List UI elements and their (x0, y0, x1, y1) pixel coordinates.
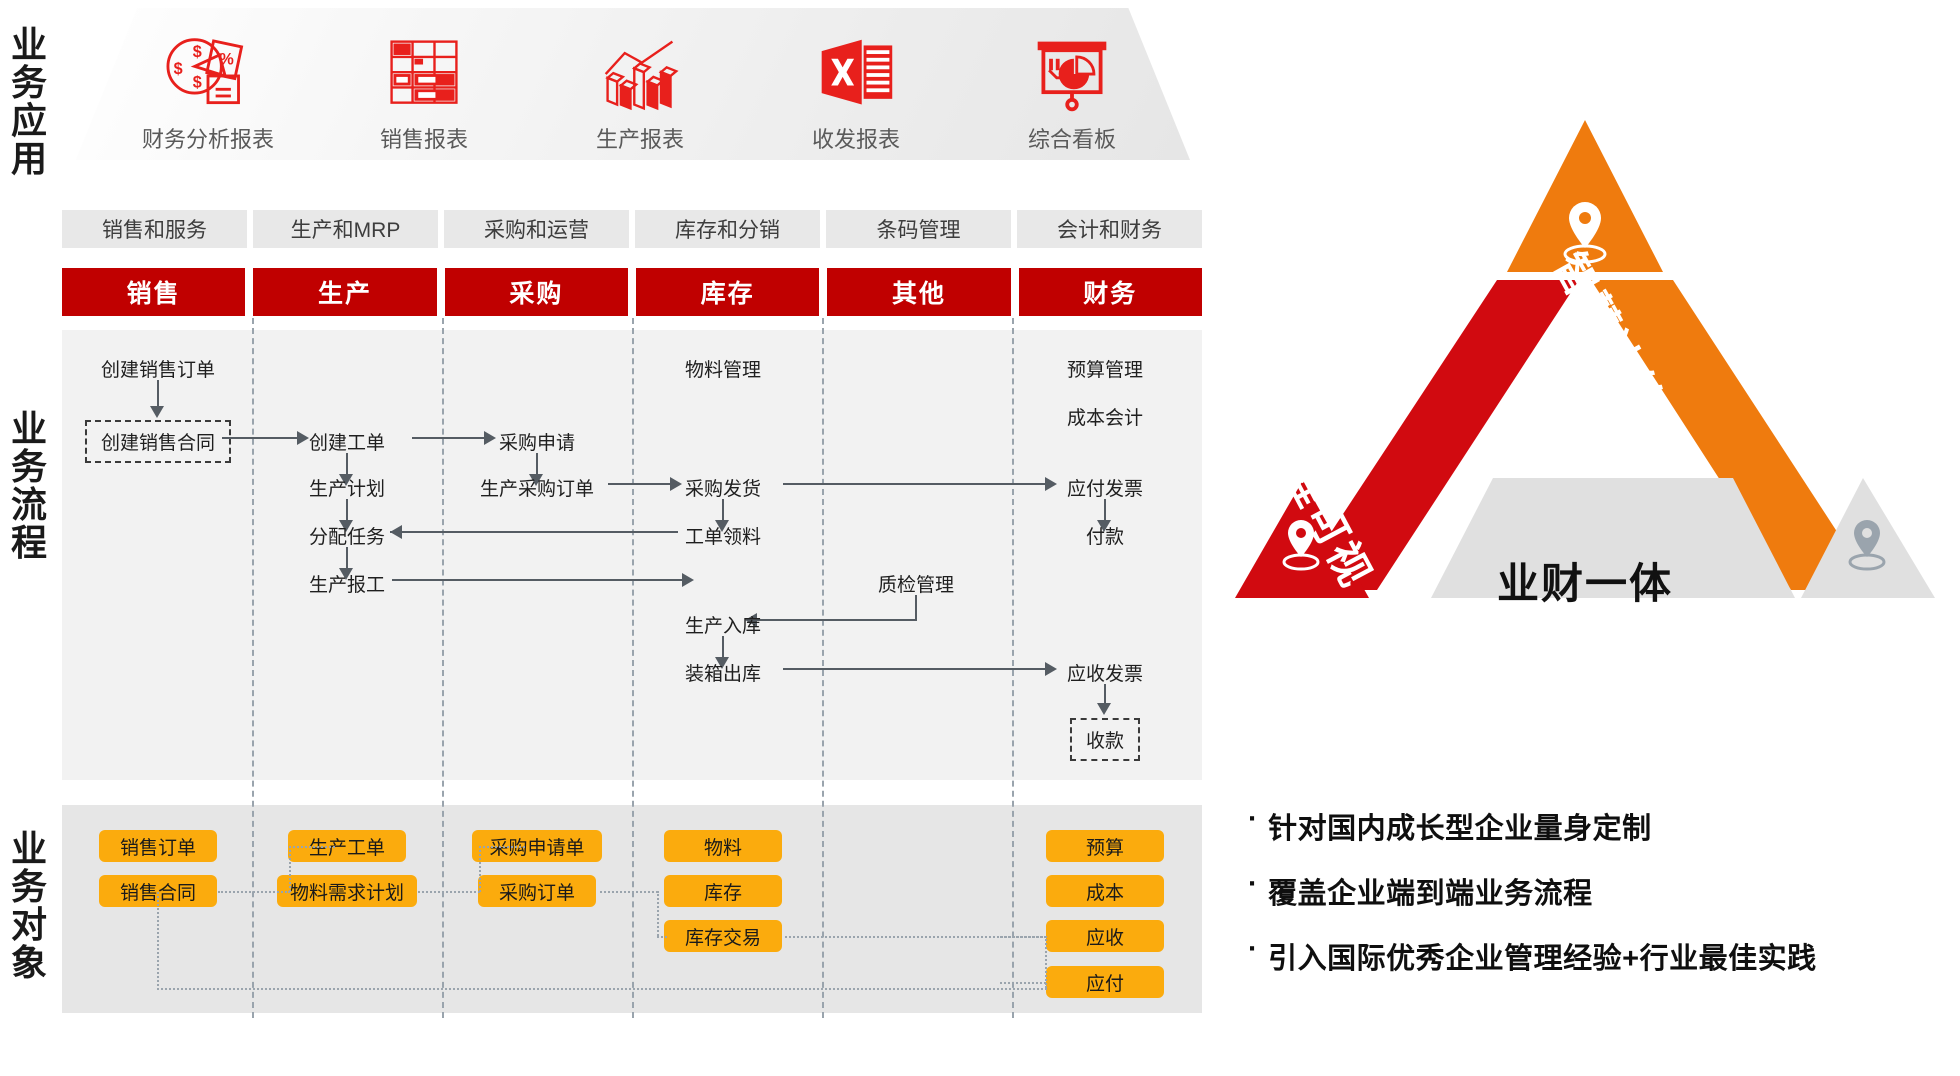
process-node-packing-stock-out[interactable]: 装箱出库 (685, 659, 761, 686)
process-node-quality-management[interactable]: 质检管理 (878, 570, 954, 597)
process-node-payable-invoice[interactable]: 应付发票 (1067, 474, 1143, 501)
object-relation-line (289, 846, 335, 848)
connector-line (222, 437, 297, 439)
object-box-cost[interactable]: 成本 (1046, 875, 1164, 907)
department-other[interactable]: 其他 (827, 268, 1010, 316)
module-chip-purchase-ops[interactable]: 采购和运营 (444, 210, 629, 248)
presentation-dashboard-icon (1024, 34, 1120, 116)
connector-line (608, 483, 670, 485)
module-chip-sales-service[interactable]: 销售和服务 (62, 210, 247, 248)
process-node-payment[interactable]: 付款 (1086, 522, 1124, 549)
application-label: 财务分析报表 (142, 122, 274, 154)
connector-line (412, 437, 484, 439)
department-finance[interactable]: 财务 (1019, 268, 1202, 316)
department-sales[interactable]: 销售 (62, 268, 245, 316)
connector-arrow (670, 477, 682, 491)
bar-chart-3d-icon (592, 34, 688, 116)
object-box-budget[interactable]: 预算 (1046, 830, 1164, 862)
department-purchase[interactable]: 采购 (445, 268, 628, 316)
application-item-sales-report[interactable]: 销售报表 (316, 24, 532, 154)
connector-arrow (1045, 477, 1057, 491)
connector-line (390, 531, 678, 533)
process-node-create-sales-contract[interactable]: 创建销售合同 (85, 420, 231, 463)
triangle-label-base: 业财一体 (1440, 550, 1730, 611)
object-relation-line (1000, 982, 1046, 984)
bullet-text: 覆盖企业端到端业务流程 (1268, 870, 1593, 912)
svg-text:$: $ (193, 73, 202, 91)
module-chip-production-mrp[interactable]: 生产和MRP (253, 210, 438, 248)
connector-arrow (1045, 662, 1057, 676)
process-node-material-management[interactable]: 物料管理 (685, 355, 761, 382)
object-box-receivable[interactable]: 应收 (1046, 920, 1164, 952)
connector-line (915, 595, 917, 621)
connector-line (157, 380, 159, 408)
process-node-production-stock-in[interactable]: 生产入库 (685, 611, 761, 638)
pie-chart-money-report-icon: $ $ $ % (160, 34, 256, 116)
object-relation-line (418, 891, 480, 893)
feature-bullet-list: · 针对国内成长型企业量身定制 · 覆盖企业端到端业务流程 · 引入国际优秀企业… (1248, 805, 1948, 1000)
lane-separator-3 (632, 318, 634, 1018)
connector-line (783, 668, 1045, 670)
connector-line (757, 619, 917, 621)
process-node-create-sales-order[interactable]: 创建销售订单 (101, 355, 215, 382)
application-label: 销售报表 (380, 122, 468, 154)
connector-arrow (484, 431, 496, 445)
object-box-sales-order[interactable]: 销售订单 (99, 830, 217, 862)
triangle-diagram: 流程可视 智慧决策 业财一体 (1235, 120, 1935, 630)
object-relation-line (600, 891, 658, 893)
module-chip-inventory-dist[interactable]: 库存和分销 (635, 210, 820, 248)
object-box-inventory[interactable]: 库存 (664, 875, 782, 907)
connector-arrow (390, 525, 402, 539)
object-box-payable[interactable]: 应付 (1046, 966, 1164, 998)
spreadsheet-table-icon (376, 34, 472, 116)
connector-arrow (297, 431, 309, 445)
svg-text:%: % (219, 51, 233, 69)
object-relation-line (657, 936, 667, 938)
department-header-row: 销售 生产 采购 库存 其他 财务 (62, 268, 1202, 316)
module-chip-accounting[interactable]: 会计和财务 (1017, 210, 1202, 248)
object-relation-line (479, 846, 481, 892)
lane-separator-1 (252, 318, 254, 1018)
connector-arrow (150, 406, 164, 418)
process-node-production-purchase-order[interactable]: 生产采购订单 (480, 474, 594, 501)
application-item-receipt-report[interactable]: 收发报表 (748, 24, 964, 154)
application-label: 生产报表 (596, 122, 684, 154)
applications-row: $ $ $ % 财务分析报表 (100, 24, 1180, 154)
object-relation-line (289, 846, 291, 892)
connector-line (392, 579, 682, 581)
object-box-mrp[interactable]: 物料需求计划 (277, 875, 417, 907)
process-node-production-plan[interactable]: 生产计划 (309, 474, 385, 501)
department-inventory[interactable]: 库存 (636, 268, 819, 316)
svg-text:$: $ (174, 60, 183, 78)
process-node-production-report[interactable]: 生产报工 (309, 570, 385, 597)
object-relation-line (157, 988, 1047, 990)
object-relation-line (657, 891, 659, 936)
process-node-work-order-picking[interactable]: 工单领料 (685, 522, 761, 549)
modules-row: 销售和服务 生产和MRP 采购和运营 库存和分销 条码管理 会计和财务 (62, 210, 1202, 248)
application-item-production-report[interactable]: 生产报表 (532, 24, 748, 154)
object-box-inventory-transaction[interactable]: 库存交易 (664, 920, 782, 952)
application-label: 收发报表 (812, 122, 900, 154)
process-node-cost-accounting[interactable]: 成本会计 (1067, 403, 1143, 430)
process-node-receivable-invoice[interactable]: 应收发票 (1067, 659, 1143, 686)
process-node-assign-task[interactable]: 分配任务 (309, 522, 385, 549)
connector-line (783, 483, 1045, 485)
lane-separator-2 (442, 318, 444, 1018)
object-box-purchase-order[interactable]: 采购订单 (478, 875, 596, 907)
object-relation-line (157, 892, 159, 990)
application-item-finance-report[interactable]: $ $ $ % 财务分析报表 (100, 24, 316, 154)
process-node-receipt[interactable]: 收款 (1070, 718, 1140, 761)
process-node-create-work-order[interactable]: 创建工单 (309, 428, 385, 455)
excel-file-icon (808, 34, 904, 116)
slide-root: 业务应用 业务流程 业务对象 $ $ $ % (0, 0, 1960, 1076)
object-box-material[interactable]: 物料 (664, 830, 782, 862)
bullet-item: · 针对国内成长型企业量身定制 (1248, 805, 1948, 847)
object-relation-line (218, 891, 290, 893)
application-item-dashboard[interactable]: 综合看板 (964, 24, 1180, 154)
bullet-dot-icon: · (1248, 805, 1258, 834)
department-production[interactable]: 生产 (253, 268, 436, 316)
connector-arrow (682, 573, 694, 587)
module-chip-barcode[interactable]: 条码管理 (826, 210, 1011, 248)
band-label-applications: 业务应用 (2, 26, 56, 179)
process-node-purchase-receipt[interactable]: 采购发货 (685, 474, 761, 501)
connector-arrow (1097, 703, 1111, 715)
bullet-text: 针对国内成长型企业量身定制 (1268, 805, 1652, 847)
band-label-objects: 业务对象 (2, 830, 56, 983)
bullet-item: · 覆盖企业端到端业务流程 (1248, 870, 1948, 912)
svg-text:$: $ (193, 43, 202, 61)
bullet-item: · 引入国际优秀企业管理经验+行业最佳实践 (1248, 935, 1948, 977)
process-node-budget-management[interactable]: 预算管理 (1067, 355, 1143, 382)
object-relation-line (1000, 936, 1046, 938)
bullet-text: 引入国际优秀企业管理经验+行业最佳实践 (1268, 935, 1816, 977)
bullet-dot-icon: · (1248, 870, 1258, 899)
object-relation-line (1045, 936, 1047, 988)
application-label: 综合看板 (1028, 122, 1116, 154)
band-label-process: 业务流程 (2, 410, 56, 563)
process-node-purchase-request[interactable]: 采购申请 (499, 428, 575, 455)
bullet-dot-icon: · (1248, 935, 1258, 964)
object-relation-line (479, 846, 525, 848)
